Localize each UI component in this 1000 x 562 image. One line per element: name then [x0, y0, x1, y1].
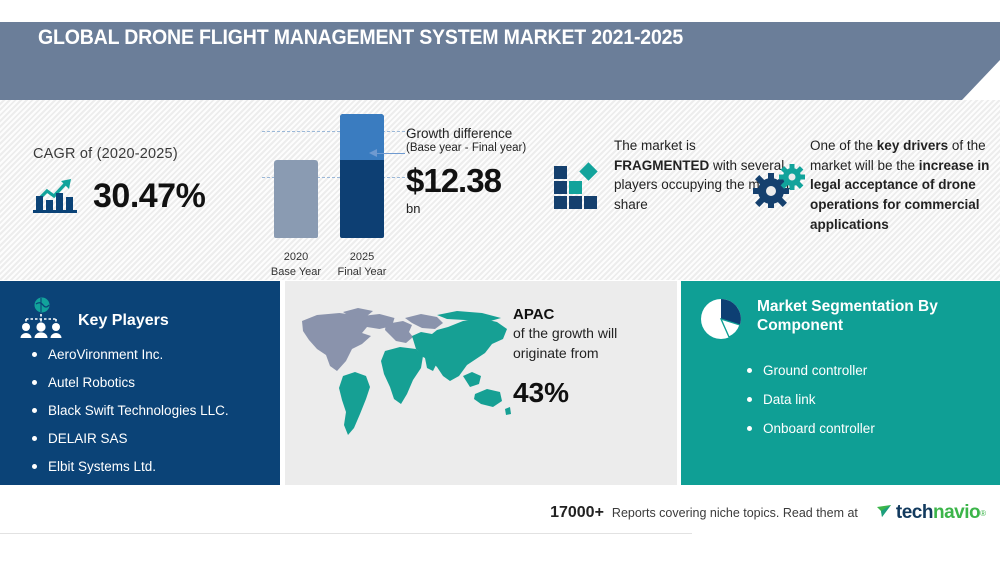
bar-final-year	[340, 114, 384, 238]
bar-sub-2025: Final Year	[338, 266, 387, 278]
gears-icon	[752, 164, 806, 208]
bar-year-2025: 2025	[350, 251, 374, 263]
growth-subtitle: (Base year - Final year)	[406, 142, 566, 154]
list-item: Ground controller	[763, 363, 875, 378]
segmentation-title: Market Segmentation By Component	[757, 297, 957, 336]
pie-chart-icon	[699, 297, 743, 346]
list-item: DELAIR SAS	[48, 431, 229, 446]
growth-difference-block: Growth difference (Base year - Final yea…	[406, 126, 566, 216]
report-count: 17000+	[550, 504, 604, 522]
org-chart-globe-icon	[18, 297, 64, 344]
segmentation-panel: Market Segmentation By Component Ground …	[681, 281, 1000, 485]
logo-text-navio: navio	[933, 502, 980, 524]
bar-year-2020: 2020	[284, 251, 308, 263]
cagr-block: CAGR of (2020-2025) 30.47%	[33, 146, 253, 219]
list-item: Black Swift Technologies LLC.	[48, 403, 229, 418]
key-players-list: AeroVironment Inc. Autel Robotics Black …	[30, 347, 229, 487]
bar-sub-2020: Base Year	[271, 266, 321, 278]
growth-title: Growth difference	[406, 126, 566, 141]
region-value: 43%	[513, 377, 673, 409]
blocks-diamond-icon	[552, 162, 604, 210]
logo-text-tech: tech	[896, 502, 933, 524]
logo-registered-mark: ®	[980, 509, 986, 518]
annotation-arrow-icon	[369, 149, 377, 157]
list-item: Onboard controller	[763, 421, 875, 436]
list-item: Autel Robotics	[48, 375, 229, 390]
region-text-block: APAC of the growth will originate from 4…	[513, 306, 673, 409]
technavio-logo[interactable]: technavio®	[876, 502, 986, 524]
footer-text: Reports covering niche topics. Read them…	[612, 506, 858, 520]
bar-chart-growth-icon	[33, 174, 81, 219]
segmentation-list: Ground controller Data link Onboard cont…	[745, 363, 875, 450]
growth-value: $12.38	[406, 162, 566, 200]
key-players-title: Key Players	[78, 312, 169, 330]
bar-label-2025: 2025 Final Year	[332, 250, 392, 280]
list-item: AeroVironment Inc.	[48, 347, 229, 362]
footer-divider	[0, 533, 692, 534]
infographic-page: GLOBAL DRONE FLIGHT MANAGEMENT SYSTEM MA…	[0, 0, 1000, 562]
guide-line-top	[262, 131, 410, 132]
key-drivers-text: One of the key drivers of the market wil…	[810, 136, 992, 235]
cagr-label: CAGR of (2020-2025)	[33, 146, 253, 162]
region-description: of the growth will originate from	[513, 324, 673, 363]
growth-unit: bn	[406, 201, 566, 216]
growth-bar-chart: 2020 Base Year 2025 Final Year	[262, 120, 402, 280]
bar-base-year	[274, 160, 318, 238]
fragmented-emphasis: FRAGMENTED	[614, 158, 709, 173]
key-players-header: Key Players	[18, 297, 169, 344]
region-panel: APAC of the growth will originate from 4…	[285, 281, 677, 485]
cagr-value: 30.47%	[93, 177, 205, 216]
bar-label-2020: 2020 Base Year	[266, 250, 326, 280]
drivers-emphasis1: key drivers	[877, 138, 948, 153]
list-item: Data link	[763, 392, 875, 407]
world-map-icon	[287, 301, 512, 446]
fragmented-line1: The market is	[614, 138, 696, 153]
page-title: GLOBAL DRONE FLIGHT MANAGEMENT SYSTEM MA…	[38, 26, 683, 50]
segmentation-header: Market Segmentation By Component	[699, 297, 957, 346]
region-name: APAC	[513, 306, 673, 323]
list-item: Elbit Systems Ltd.	[48, 459, 229, 474]
technavio-arrow-icon	[876, 503, 893, 524]
drivers-line1: One of the	[810, 138, 877, 153]
key-players-panel: Key Players AeroVironment Inc. Autel Rob…	[0, 281, 280, 485]
footer-bar: 17000+ Reports covering niche topics. Re…	[0, 493, 1000, 533]
